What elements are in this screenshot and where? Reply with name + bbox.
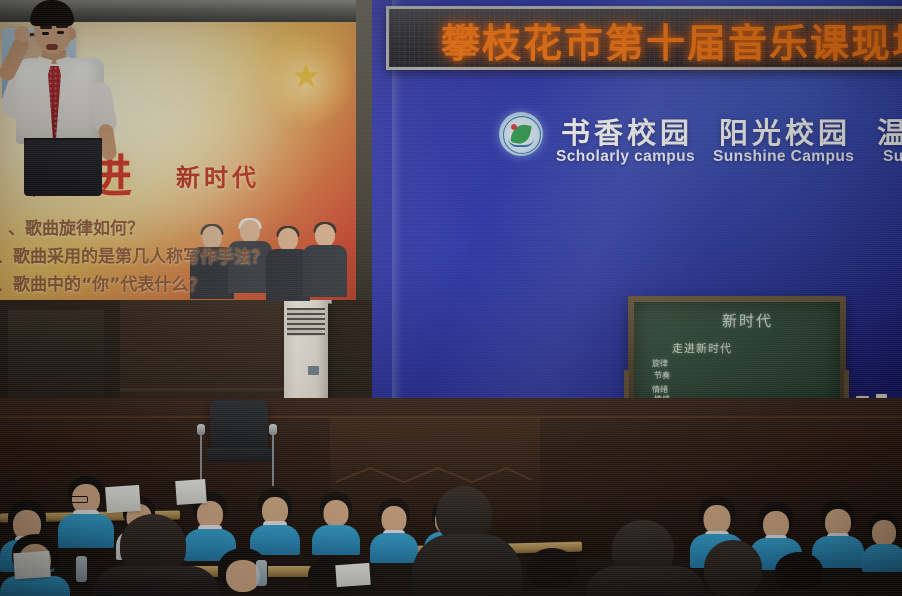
student-back-5	[250, 488, 300, 552]
adult-shoulders-2	[92, 566, 220, 596]
teacher-eye-left	[42, 32, 49, 35]
student-right-4	[862, 512, 902, 572]
water-bottle-1[interactable]	[76, 556, 87, 582]
mic-stand-right[interactable]	[272, 430, 274, 486]
student-uniform	[0, 576, 70, 596]
student-face	[872, 520, 896, 546]
slogan-1-en: Scholarly campus	[556, 148, 695, 166]
student-back-6	[312, 492, 360, 554]
student-face	[324, 500, 349, 527]
sheet-music-1	[105, 485, 141, 513]
student-back-7	[370, 498, 418, 560]
slogan-2-en: Sunshine Campus	[713, 148, 854, 166]
presenter-chair[interactable]	[210, 400, 268, 448]
led-marquee-sign: 攀枝花市第十届音乐课现场	[386, 6, 902, 70]
teacher-ear	[68, 28, 76, 40]
student-hair	[775, 552, 823, 590]
presenter-chair-seat[interactable]	[206, 448, 272, 462]
slide-question-2: 、歌曲采用的是第几人称写作手法？	[0, 242, 268, 267]
slogan-3-en: Su	[883, 148, 902, 166]
leader-body	[303, 245, 347, 297]
emblem-dot	[511, 124, 517, 130]
adult-shoulders-3	[586, 566, 706, 596]
student-uniform	[862, 544, 902, 572]
leader-head	[278, 228, 298, 251]
student-uniform	[370, 533, 418, 563]
mic-head-right[interactable]	[269, 424, 277, 435]
student-face	[382, 506, 407, 533]
student-front-5	[764, 552, 834, 596]
aircon-top-vent	[287, 308, 325, 336]
student-glasses	[70, 496, 88, 503]
water-bottle-2[interactable]	[256, 560, 267, 586]
blackboard-line-1: 走进新时代	[672, 340, 732, 356]
teacher-brow-left	[40, 26, 52, 29]
leader-head	[315, 224, 335, 247]
student-face	[704, 505, 731, 534]
leader-head	[240, 220, 260, 243]
slide-question-1: 、歌曲旋律如何？	[8, 214, 144, 239]
zigzag-moulding	[336, 464, 532, 486]
sheet-music-4	[335, 563, 370, 587]
student-front-2	[206, 548, 280, 596]
blackboard-surface: 新时代 走进新时代 旋律 节奏 情绪 情感	[634, 302, 840, 402]
teacher-trousers	[24, 140, 102, 196]
slogan-1-cn: 书香校园	[561, 110, 693, 152]
student-front-4	[516, 548, 588, 596]
slogan-3-cn: 温馨校园	[877, 110, 902, 152]
aircon-badge	[308, 366, 319, 375]
blackboard-title: 新时代	[722, 310, 773, 331]
teacher-brow-right	[56, 25, 68, 28]
student-hair	[527, 548, 577, 588]
blackboard: 新时代 走进新时代 旋律 节奏 情绪 情感	[628, 296, 846, 412]
slide-subtitle: 新时代	[176, 158, 260, 193]
sheet-music-2	[175, 479, 207, 505]
slide-leader-4	[302, 224, 348, 300]
slide-question-3: 、歌曲中的“你”代表什么？	[0, 270, 205, 295]
sheet-music-3	[13, 551, 51, 579]
student-uniform	[312, 525, 360, 555]
mic-head-left[interactable]	[197, 424, 205, 435]
led-marquee-text: 攀枝花市第十届音乐课现场	[441, 13, 902, 69]
teacher-eye-right	[57, 31, 64, 34]
classroom-photo: 教育局安全应急指示牌	[0, 0, 902, 596]
school-emblem-icon	[499, 112, 543, 156]
adult-shoulders-1	[412, 534, 522, 596]
teacher-mouth	[46, 44, 58, 50]
teacher-necktie-pattern	[48, 66, 61, 138]
blackboard-line-2: 旋律	[652, 358, 668, 369]
teacher-hand-at-head	[14, 26, 30, 42]
slogan-2-cn: 阳光校园	[719, 110, 851, 152]
slide-star-icon	[292, 62, 320, 90]
blackboard-line-3: 节奏	[654, 370, 670, 381]
student-face	[226, 560, 260, 592]
adult-head-4	[704, 540, 762, 596]
